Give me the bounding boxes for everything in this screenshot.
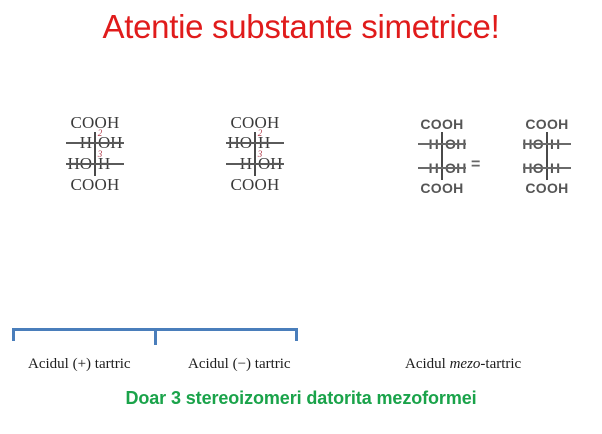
stereocenter-row-upper: H OH [390, 132, 494, 156]
structure-bottom-group: COOH [198, 176, 312, 194]
stereocenter-row-3: 3 H OH [198, 153, 312, 174]
bracket-left-tick [12, 328, 15, 341]
stereocenter-row-upper: HO H [495, 132, 599, 156]
enantiomer-pair-bracket [12, 328, 298, 344]
caption-acid-minus-tartric: Acidul (−) tartric [188, 356, 291, 373]
bracket-center-tick [154, 330, 157, 345]
locant-number-3: 3 [258, 150, 263, 159]
structure-bottom-group: COOH [40, 176, 150, 194]
caption-suffix: -tartric [480, 356, 521, 372]
structure-top-group: COOH [390, 116, 494, 132]
structure-bottom-group: COOH [495, 180, 599, 196]
page-title: Atentie substante simetrice! [0, 8, 602, 46]
stereocenter-row-2: 2 HO H [198, 132, 312, 153]
horizontal-bond [66, 142, 124, 144]
fischer-projection-acid-minus-tartric: COOH 2 HO H 3 H OH COOH [198, 114, 312, 194]
fischer-projection-acid-plus-tartric: COOH 2 H OH 3 HO H COOH [40, 114, 150, 194]
fischer-projection-acid-mezo-tartric-right: COOH HO H HO H COOH [495, 116, 599, 196]
horizontal-bond [226, 163, 284, 165]
locant-number-2: 2 [258, 129, 263, 138]
stereocenter-row-3: 3 HO H [40, 153, 150, 174]
caption-italic-mezo: mezo [450, 356, 481, 372]
slide-canvas: Atentie substante simetrice! COOH 2 H OH… [0, 0, 602, 434]
equals-sign-icon: = [471, 156, 480, 174]
bracket-right-tick [295, 328, 298, 341]
structure-top-group: COOH [198, 114, 312, 132]
horizontal-bond [66, 163, 124, 165]
structure-top-group: COOH [40, 114, 150, 132]
horizontal-bond [523, 167, 571, 169]
caption-acid-plus-tartric: Acidul (+) tartric [28, 356, 131, 373]
stereocenter-row-2: 2 H OH [40, 132, 150, 153]
caption-prefix: Acidul [405, 356, 450, 372]
horizontal-bond [418, 143, 466, 145]
horizontal-bond [523, 143, 571, 145]
tartaric-acid-figure: COOH 2 H OH 3 HO H COOH COOH [0, 100, 602, 300]
horizontal-bond [226, 142, 284, 144]
horizontal-bond [418, 167, 466, 169]
stereocenter-row-lower: HO H [495, 156, 599, 180]
structure-top-group: COOH [495, 116, 599, 132]
caption-acid-mezo-tartric: Acidul mezo-tartric [405, 356, 521, 373]
structure-bottom-group: COOH [390, 180, 494, 196]
footnote-text: Doar 3 stereoizomeri datorita mezoformei [0, 388, 602, 409]
locant-number-2: 2 [98, 129, 103, 138]
locant-number-3: 3 [98, 150, 103, 159]
